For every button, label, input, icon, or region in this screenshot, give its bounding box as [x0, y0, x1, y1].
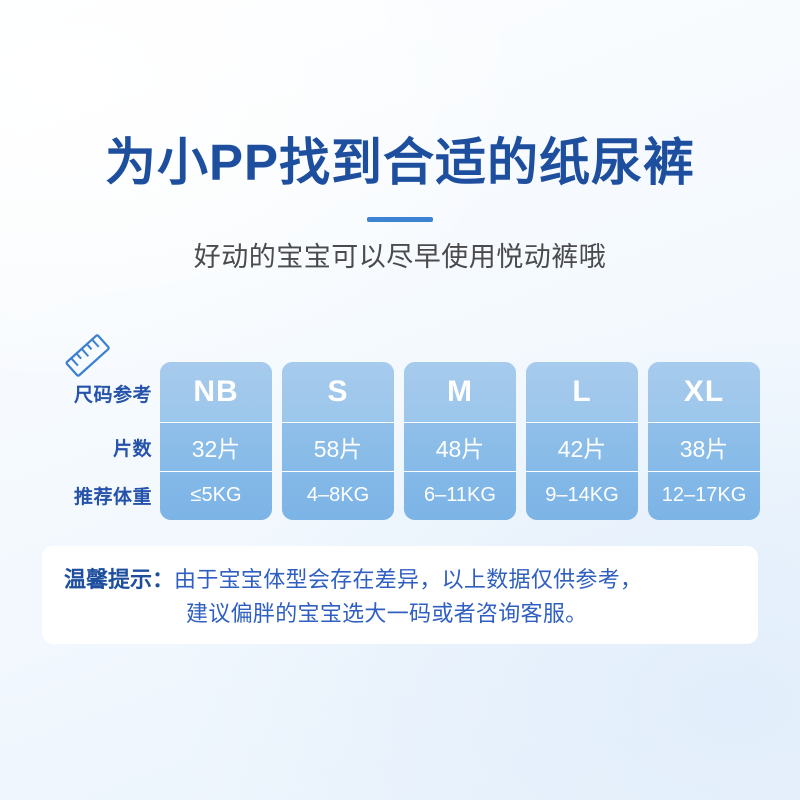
size-column-s[interactable]: S 58片 4–8KG	[282, 362, 394, 520]
tip-text: 由于宝宝体型会存在差异，以上数据仅供参考， 建议偏胖的宝宝选大一码或者咨询客服。	[174, 563, 642, 631]
title-divider	[367, 217, 433, 222]
cell-count: 32片	[160, 422, 272, 471]
size-column-l[interactable]: L 42片 9–14KG	[526, 362, 638, 520]
title-divider-wrap	[0, 209, 800, 215]
cell-weight: 6–11KG	[404, 471, 516, 520]
table-columns: NB 32片 ≤5KG S 58片 4–8KG M 48片 6–11KG L 4…	[160, 362, 760, 520]
page-root: 为小PP找到合适的纸尿裤 好动的宝宝可以尽早使用悦动裤哦 尺码参考 片数 推荐体…	[0, 0, 800, 800]
cell-count: 42片	[526, 422, 638, 471]
size-column-xl[interactable]: XL 38片 12–17KG	[648, 362, 760, 520]
tip-label: 温馨提示：	[64, 563, 174, 597]
cell-weight: 4–8KG	[282, 471, 394, 520]
size-column-m[interactable]: M 48片 6–11KG	[404, 362, 516, 520]
page-title: 为小PP找到合适的纸尿裤	[0, 134, 800, 191]
cell-count: 38片	[648, 422, 760, 471]
cell-weight: ≤5KG	[160, 471, 272, 520]
size-reference-table: 尺码参考 片数 推荐体重 NB 32片 ≤5KG S 58片 4–8KG M 4…	[40, 362, 760, 520]
tip-line-1: 由于宝宝体型会存在差异，以上数据仅供参考，	[174, 567, 642, 592]
tip-line-2: 建议偏胖的宝宝选大一码或者咨询客服。	[174, 597, 642, 631]
cell-count: 58片	[282, 422, 394, 471]
cell-size: L	[526, 362, 638, 422]
cell-size: M	[404, 362, 516, 422]
cell-size: NB	[160, 362, 272, 422]
cell-weight: 9–14KG	[526, 471, 638, 520]
cell-size: XL	[648, 362, 760, 422]
page-subtitle: 好动的宝宝可以尽早使用悦动裤哦	[0, 235, 800, 274]
table-row-labels: 尺码参考 片数 推荐体重	[40, 362, 152, 520]
row-label-count: 片数	[40, 424, 152, 472]
cell-size: S	[282, 362, 394, 422]
cell-weight: 12–17KG	[648, 471, 760, 520]
size-column-nb[interactable]: NB 32片 ≤5KG	[160, 362, 272, 520]
row-label-weight: 推荐体重	[40, 472, 152, 520]
row-label-size: 尺码参考	[40, 364, 152, 424]
header-block: 为小PP找到合适的纸尿裤 好动的宝宝可以尽早使用悦动裤哦	[0, 134, 800, 274]
tip-box: 温馨提示： 由于宝宝体型会存在差异，以上数据仅供参考， 建议偏胖的宝宝选大一码或…	[42, 546, 758, 644]
cell-count: 48片	[404, 422, 516, 471]
